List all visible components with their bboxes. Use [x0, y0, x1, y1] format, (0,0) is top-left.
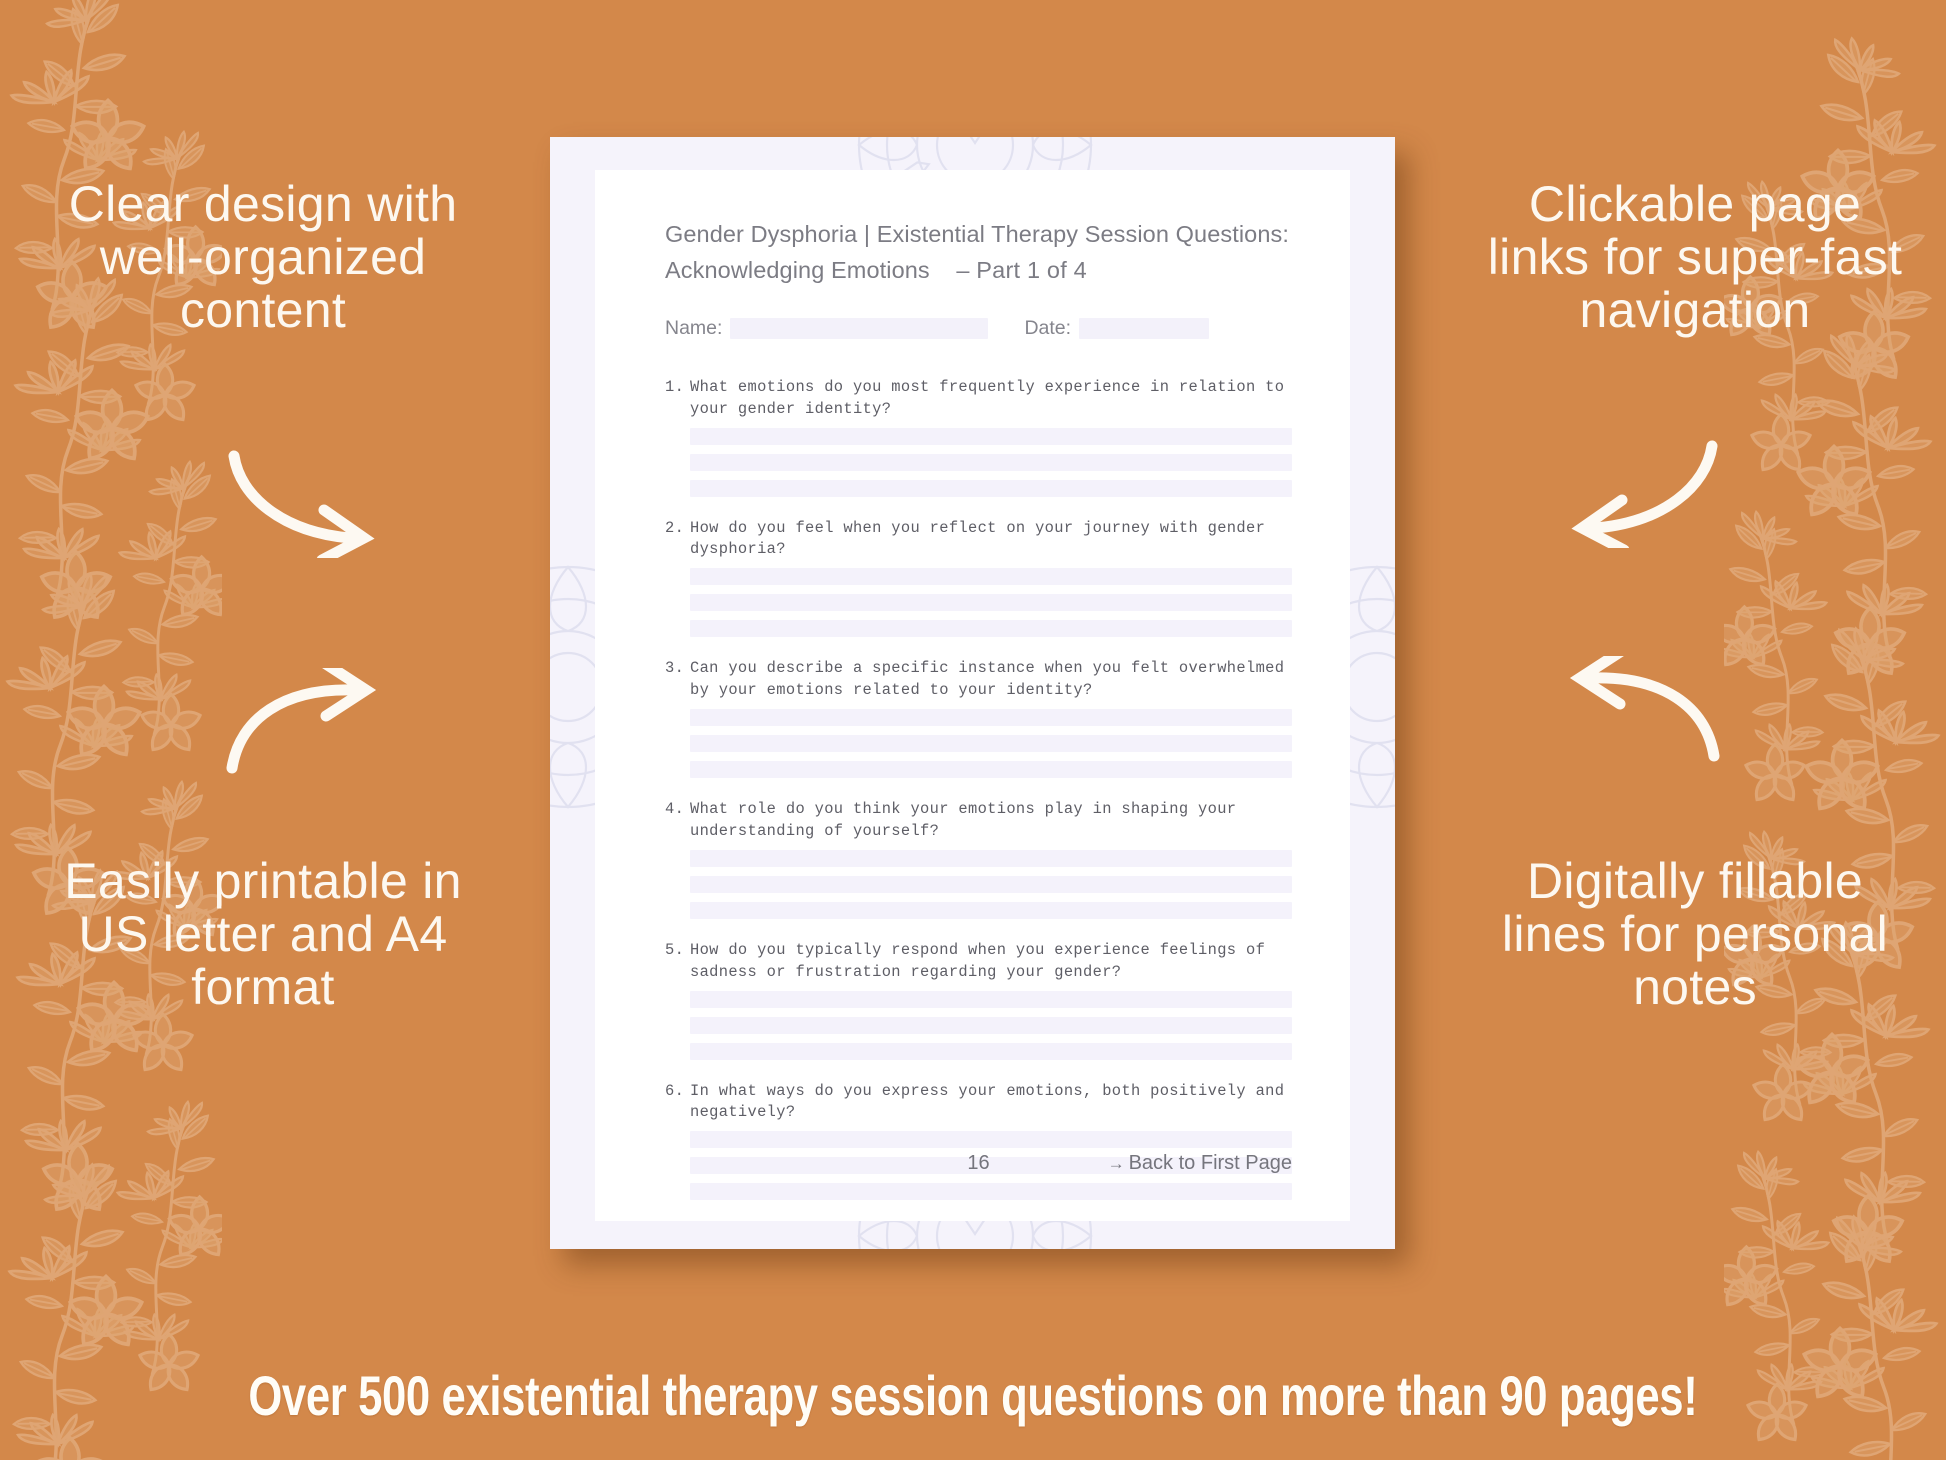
worksheet-title-line2: Acknowledging Emotions [665, 257, 930, 283]
answer-lines [690, 850, 1292, 919]
back-to-first-page-link[interactable]: →Back to First Page [1108, 1152, 1292, 1175]
answer-line[interactable] [690, 568, 1292, 585]
question-text: What emotions do you most frequently exp… [690, 377, 1292, 421]
question-block: 3.Can you describe a specific instance w… [665, 658, 1292, 778]
back-to-first-page-label: Back to First Page [1129, 1152, 1292, 1174]
caption-clear-design: Clear design with well-organized content [48, 178, 478, 337]
answer-line[interactable] [690, 761, 1292, 778]
name-label: Name: [665, 317, 722, 340]
name-date-row: Name: Date: [665, 317, 1292, 340]
name-input[interactable] [730, 318, 988, 339]
answer-line[interactable] [690, 850, 1292, 867]
question-text: How do you feel when you reflect on your… [690, 518, 1292, 562]
answer-line[interactable] [690, 735, 1292, 752]
answer-line[interactable] [690, 1043, 1292, 1060]
answer-line[interactable] [690, 428, 1292, 445]
question-number: 5. [665, 940, 690, 984]
answer-line[interactable] [690, 991, 1292, 1008]
caption-easily-printable: Easily printable in US letter and A4 for… [48, 855, 478, 1014]
answer-lines [690, 709, 1292, 778]
arrow-down-right-icon [222, 448, 392, 563]
answer-line[interactable] [690, 620, 1292, 637]
worksheet-part-label: – Part 1 of 4 [956, 257, 1087, 283]
date-input[interactable] [1079, 318, 1209, 339]
document-content-area: Gender Dysphoria | Existential Therapy S… [595, 170, 1350, 1221]
question-block: 5.How do you typically respond when you … [665, 940, 1292, 1060]
answer-lines [690, 568, 1292, 637]
answer-line[interactable] [690, 1017, 1292, 1034]
question-number: 6. [665, 1081, 690, 1125]
question-number: 3. [665, 658, 690, 702]
document-page: Gender Dysphoria | Existential Therapy S… [550, 137, 1395, 1249]
question-text: Can you describe a specific instance whe… [690, 658, 1292, 702]
question-block: 4.What role do you think your emotions p… [665, 799, 1292, 919]
answer-lines [690, 991, 1292, 1060]
question-text-row: 1.What emotions do you most frequently e… [665, 377, 1292, 421]
caption-clickable-links: Clickable page links for super-fast navi… [1480, 178, 1910, 337]
date-label: Date: [1024, 317, 1071, 340]
answer-line[interactable] [690, 454, 1292, 471]
answer-line[interactable] [690, 876, 1292, 893]
question-block: 2.How do you feel when you reflect on yo… [665, 518, 1292, 638]
question-text-row: 5.How do you typically respond when you … [665, 940, 1292, 984]
question-number: 4. [665, 799, 690, 843]
answer-line[interactable] [690, 480, 1292, 497]
answer-line[interactable] [690, 1183, 1292, 1200]
question-block: 1.What emotions do you most frequently e… [665, 377, 1292, 497]
question-text: How do you typically respond when you ex… [690, 940, 1292, 984]
question-text-row: 3.Can you describe a specific instance w… [665, 658, 1292, 702]
arrow-up-right-icon [222, 668, 392, 783]
worksheet-title-line1: Gender Dysphoria | Existential Therapy S… [665, 216, 1292, 252]
question-text-row: 4.What role do you think your emotions p… [665, 799, 1292, 843]
answer-lines [690, 428, 1292, 497]
question-number: 1. [665, 377, 690, 421]
answer-line[interactable] [690, 594, 1292, 611]
document-preview[interactable]: Gender Dysphoria | Existential Therapy S… [550, 137, 1395, 1249]
bottom-banner: Over 500 existential therapy session que… [0, 1330, 1946, 1460]
arrow-down-left-icon [1554, 438, 1724, 553]
answer-line[interactable] [690, 1131, 1292, 1148]
document-footer: 16 →Back to First Page [665, 1152, 1292, 1175]
question-number: 2. [665, 518, 690, 562]
question-block: 6.In what ways do you express your emoti… [665, 1081, 1292, 1201]
worksheet-title: Gender Dysphoria | Existential Therapy S… [665, 216, 1292, 289]
question-text-row: 6.In what ways do you express your emoti… [665, 1081, 1292, 1125]
caption-fillable-lines: Digitally fillable lines for personal no… [1480, 855, 1910, 1014]
question-text-row: 2.How do you feel when you reflect on yo… [665, 518, 1292, 562]
question-list: 1.What emotions do you most frequently e… [665, 377, 1292, 1201]
question-text: In what ways do you express your emotion… [690, 1081, 1292, 1125]
arrow-up-left-icon [1554, 656, 1724, 771]
arrow-right-icon: → [1108, 1154, 1125, 1173]
question-text: What role do you think your emotions pla… [690, 799, 1292, 843]
answer-line[interactable] [690, 902, 1292, 919]
answer-line[interactable] [690, 709, 1292, 726]
page-number: 16 [967, 1152, 989, 1175]
bottom-banner-text: Over 500 existential therapy session que… [248, 1363, 1697, 1428]
